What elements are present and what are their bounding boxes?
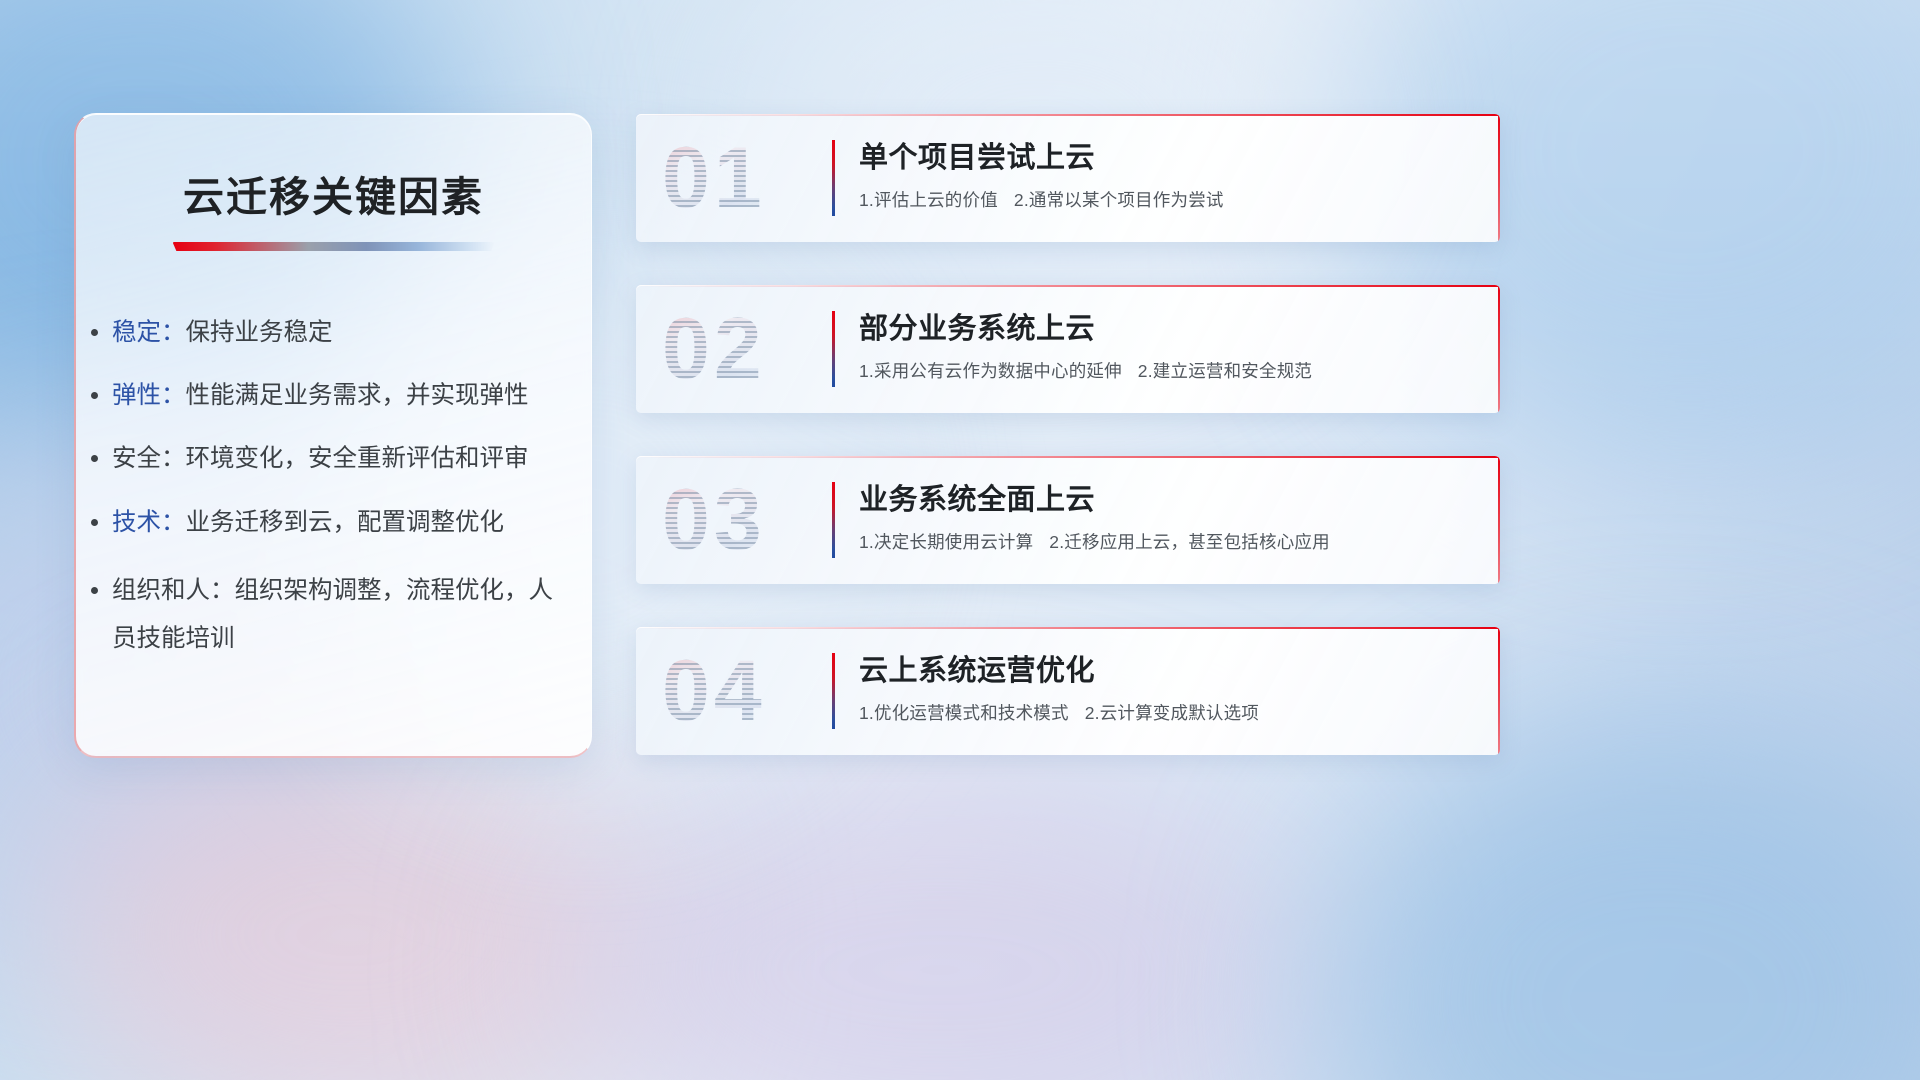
stage-card-subtitle-part-2: 2.迁移应用上云，甚至包括核心应用 [1049, 532, 1330, 552]
stage-number: 04 [662, 648, 766, 734]
stage-card-title: 云上系统运营优化 [859, 654, 1476, 689]
stage-card-title: 业务系统全面上云 [859, 483, 1476, 518]
accent-bar [832, 653, 835, 729]
list-item-body: 保持业务稳定 [186, 319, 333, 346]
stage-card[interactable]: 0404云上系统运营优化1.优化运营模式和技术模式2.云计算变成默认选项 [636, 627, 1500, 755]
stage-card-subtitle: 1.优化运营模式和技术模式2.云计算变成默认选项 [859, 702, 1476, 725]
stage-card-title: 单个项目尝试上云 [859, 141, 1476, 176]
slide-stage: 云迁移关键因素 稳定：保持业务稳定弹性：性能满足业务需求，并实现弹性安全：环境变… [0, 0, 1920, 1080]
title-underline-rule [173, 242, 495, 251]
stage-card-subtitle: 1.决定长期使用云计算2.迁移应用上云，甚至包括核心应用 [859, 531, 1476, 554]
stage-card-text: 业务系统全面上云1.决定长期使用云计算2.迁移应用上云，甚至包括核心应用 [859, 483, 1476, 554]
accent-bar [832, 311, 835, 387]
stage-card-title: 部分业务系统上云 [859, 312, 1476, 347]
stage-card-subtitle-part-2: 2.云计算变成默认选项 [1085, 703, 1259, 723]
list-item: 弹性：性能满足业务需求，并实现弹性 [112, 377, 591, 414]
stage-card-subtitle: 1.采用公有云作为数据中心的延伸2.建立运营和安全规范 [859, 360, 1476, 383]
stage-number: 01 [662, 135, 766, 221]
list-item-label: 技术： [112, 509, 186, 536]
migration-stage-card-list: 0101单个项目尝试上云1.评估上云的价值2.通常以某个项目作为尝试0202部分… [636, 114, 1500, 798]
stage-card-text: 单个项目尝试上云1.评估上云的价值2.通常以某个项目作为尝试 [859, 141, 1476, 212]
page-title: 云迁移关键因素 [76, 163, 591, 223]
stage-number: 02 [662, 306, 766, 392]
stage-card-subtitle-part-1: 1.决定长期使用云计算 [859, 532, 1033, 552]
list-item-label: 安全： [112, 445, 186, 472]
accent-bar [832, 482, 835, 558]
list-item-body: 业务迁移到云，配置调整优化 [186, 509, 505, 536]
stage-card[interactable]: 0101单个项目尝试上云1.评估上云的价值2.通常以某个项目作为尝试 [636, 114, 1500, 242]
list-item-body: 环境变化，安全重新评估和评审 [186, 445, 529, 472]
stage-card-subtitle: 1.评估上云的价值2.通常以某个项目作为尝试 [859, 189, 1476, 212]
list-item: 稳定：保持业务稳定 [112, 314, 591, 351]
stage-card[interactable]: 0202部分业务系统上云1.采用公有云作为数据中心的延伸2.建立运营和安全规范 [636, 285, 1500, 413]
stage-card-subtitle-part-2: 2.通常以某个项目作为尝试 [1014, 190, 1224, 210]
stage-card[interactable]: 0303业务系统全面上云1.决定长期使用云计算2.迁移应用上云，甚至包括核心应用 [636, 456, 1500, 584]
stage-card-subtitle-part-1: 1.评估上云的价值 [859, 190, 998, 210]
key-factors-panel: 云迁移关键因素 稳定：保持业务稳定弹性：性能满足业务需求，并实现弹性安全：环境变… [74, 113, 592, 758]
list-item-label: 组织和人： [112, 577, 235, 604]
list-item: 组织和人：组织架构调整，流程优化，人员技能培训 [112, 567, 562, 663]
list-item-body: 性能满足业务需求，并实现弹性 [186, 382, 529, 409]
list-item-label: 稳定： [112, 319, 186, 346]
stage-number: 03 [662, 477, 766, 563]
key-factors-list: 稳定：保持业务稳定弹性：性能满足业务需求，并实现弹性安全：环境变化，安全重新评估… [112, 314, 591, 662]
stage-card-text: 部分业务系统上云1.采用公有云作为数据中心的延伸2.建立运营和安全规范 [859, 312, 1476, 383]
stage-card-subtitle-part-2: 2.建立运营和安全规范 [1138, 361, 1312, 381]
list-item: 技术：业务迁移到云，配置调整优化 [112, 504, 591, 541]
stage-card-subtitle-part-1: 1.采用公有云作为数据中心的延伸 [859, 361, 1122, 381]
stage-card-text: 云上系统运营优化1.优化运营模式和技术模式2.云计算变成默认选项 [859, 654, 1476, 725]
accent-bar [832, 140, 835, 216]
list-item: 安全：环境变化，安全重新评估和评审 [112, 440, 591, 477]
stage-card-subtitle-part-1: 1.优化运营模式和技术模式 [859, 703, 1069, 723]
list-item-label: 弹性： [112, 382, 186, 409]
